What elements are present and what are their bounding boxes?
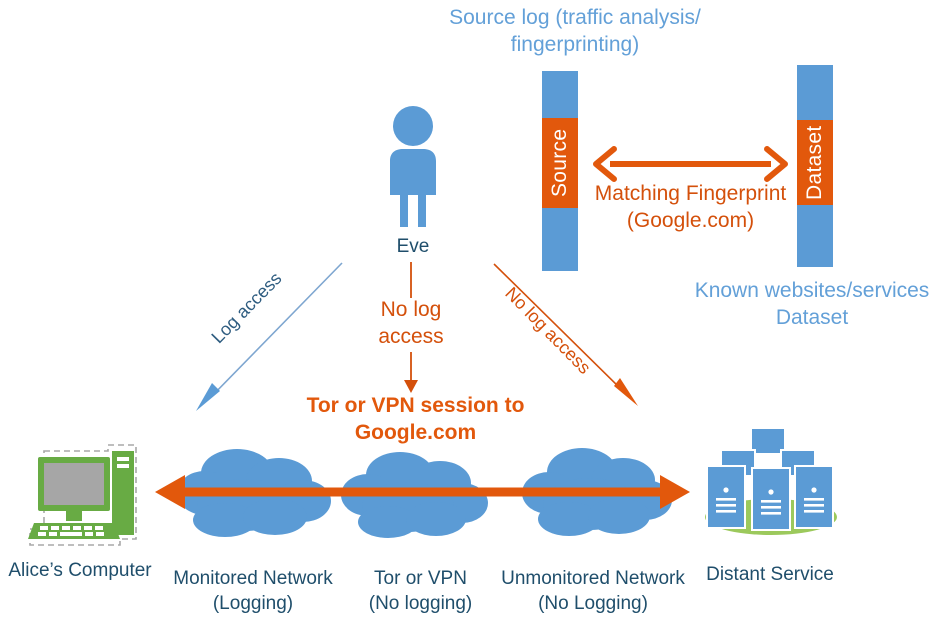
- no-log-access-arrow-down-right-icon: [488, 258, 648, 410]
- no-log-access-center-label: No log access: [350, 296, 472, 350]
- caption-monitored-network: Monitored Network (Logging): [163, 566, 343, 616]
- dataset-caption-line1: Known websites/services: [672, 277, 951, 304]
- caption-monitored-network-line2: (Logging): [163, 591, 343, 616]
- diagram-canvas: Source log (traffic analysis/ fingerprin…: [0, 0, 951, 627]
- no-log-access-center-line1: No log: [350, 296, 472, 323]
- dataset-caption-line2: Dataset: [672, 304, 951, 331]
- caption-unmonitored-network-line2: (No Logging): [498, 591, 688, 616]
- caption-tor-or-vpn-line1: Tor or VPN: [358, 566, 483, 591]
- caption-tor-or-vpn-line2: (No logging): [358, 591, 483, 616]
- source-log-title: Source log (traffic analysis/ fingerprin…: [410, 4, 740, 58]
- eve-person-icon: [368, 105, 458, 230]
- dataset-bar: Dataset: [797, 65, 833, 267]
- dataset-caption: Known websites/services Dataset: [672, 277, 951, 331]
- desktop-computer-icon: [16, 443, 152, 553]
- source-log-title-line1: Source log (traffic analysis/: [410, 4, 740, 31]
- server-stack-icon: [697, 424, 845, 536]
- caption-distant-service-line1: Distant Service: [695, 562, 845, 587]
- source-log-title-line2: fingerprinting): [410, 31, 740, 58]
- caption-unmonitored-network: Unmonitored Network (No Logging): [498, 566, 688, 616]
- eve-label: Eve: [373, 234, 453, 259]
- session-title-line1: Tor or VPN session to: [278, 392, 553, 419]
- matching-fingerprint-line2: (Google.com): [578, 207, 803, 234]
- session-title-line2: Google.com: [278, 419, 553, 446]
- matching-fingerprint-label: Matching Fingerprint (Google.com): [578, 180, 803, 234]
- no-log-access-center-line-top: [403, 262, 419, 298]
- caption-alice-computer: Alice’s Computer: [0, 558, 160, 583]
- source-bar-highlight: Source: [542, 118, 578, 208]
- source-bar: Source: [542, 71, 578, 271]
- matching-fingerprint-line1: Matching Fingerprint: [578, 180, 803, 207]
- no-log-access-arrow-down-icon: [402, 352, 420, 394]
- session-title: Tor or VPN session to Google.com: [278, 392, 553, 446]
- path-double-headed-arrow-icon: [155, 470, 690, 514]
- caption-distant-service: Distant Service: [695, 562, 845, 587]
- caption-alice-computer-line1: Alice’s Computer: [0, 558, 160, 583]
- caption-tor-or-vpn: Tor or VPN (No logging): [358, 566, 483, 616]
- source-bar-label: Source: [542, 118, 578, 208]
- caption-monitored-network-line1: Monitored Network: [163, 566, 343, 591]
- caption-unmonitored-network-line1: Unmonitored Network: [498, 566, 688, 591]
- no-log-access-center-line2: access: [350, 323, 472, 350]
